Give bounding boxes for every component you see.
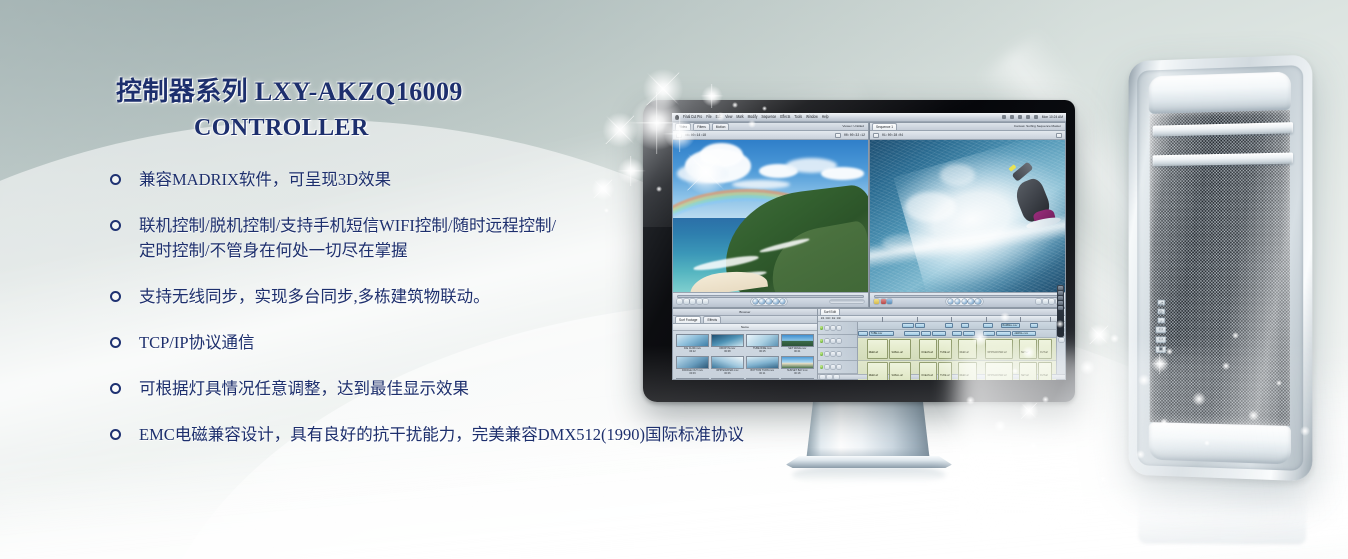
timeline-tracks[interactable]: BARREL.mov TUBE.mov — [858, 322, 1056, 374]
tool-palette[interactable] — [1057, 285, 1064, 337]
canvas-panel: Sequence 1 Canvas: Surfing Sequence Mast… — [869, 122, 1066, 308]
blue-keyframe-icon[interactable] — [887, 299, 892, 304]
bullet-ring-icon — [110, 429, 121, 440]
table-row[interactable] — [983, 331, 995, 336]
clip-label: BARREL.mov — [1002, 324, 1019, 327]
canvas-infobar[interactable]: 01:00:28:04 — [870, 131, 1065, 140]
table-row[interactable] — [996, 331, 1012, 336]
table-row[interactable]: TUBE.aif — [938, 362, 952, 380]
table-row[interactable]: OUT.aif — [1038, 339, 1052, 359]
go-to-end-icon[interactable] — [975, 299, 980, 304]
menubar-clock[interactable]: Mon 10:24 AM — [1042, 115, 1063, 119]
canvas-viewer[interactable] — [870, 140, 1065, 292]
table-row[interactable] — [902, 323, 914, 328]
table-row[interactable] — [921, 331, 931, 336]
list-item: 支持无线同步，实现多台同步,多栋建筑物联动。 — [104, 284, 864, 309]
canvas-button-row — [870, 297, 1065, 306]
clip-label: REEF.aif — [868, 374, 879, 377]
bullet-ring-icon — [110, 220, 121, 231]
insert-edit-icon[interactable] — [1036, 299, 1041, 304]
clip-label: OCEAN.aif — [920, 374, 934, 377]
table-row[interactable]: SET.aif — [1019, 339, 1037, 359]
play-in-to-out-icon[interactable] — [955, 299, 960, 304]
list-item: 联机控制/脱机控制/支持手机短信WIFI控制/随时远程控制/定时控制/不管身在何… — [104, 213, 864, 263]
clip-label: TUBE.aif — [939, 374, 951, 377]
clip-label: WHITEWATER.aif — [986, 374, 1007, 377]
tower-chassis: ⎇ ⏻ ♪ ▭ ▭ ▣ — [1129, 55, 1313, 482]
table-row[interactable]: SET.aif — [1019, 362, 1037, 380]
table-row[interactable] — [983, 323, 993, 328]
canvas-timecode[interactable]: 01:00:28:04 — [882, 133, 903, 137]
table-row[interactable]: BARREL.mov — [1001, 323, 1021, 328]
stand-reflection — [792, 467, 946, 483]
table-row[interactable] — [952, 331, 962, 336]
bluetooth-icon[interactable] — [1002, 115, 1006, 119]
clip-label: REEF.aif — [959, 374, 970, 377]
list-item: EMC电磁兼容设计，具有良好的抗干扰能力，完美兼容DMX512(1990)国际标… — [104, 422, 864, 447]
firewire-800-icon[interactable]: ▣ — [1156, 346, 1167, 353]
bullet-ring-icon — [110, 383, 121, 394]
red-record-icon[interactable] — [881, 299, 886, 304]
list-item-label: TCP/IP协议通信 — [139, 330, 255, 355]
table-row[interactable]: REEF.aif — [958, 339, 978, 359]
table-row[interactable]: REEF.aif — [867, 362, 889, 380]
clip-label: OCEAN.aif — [920, 351, 934, 354]
razor-tool-icon[interactable] — [1058, 291, 1063, 295]
table-row[interactable] — [1030, 323, 1038, 328]
pen-tool-icon[interactable] — [1058, 306, 1063, 310]
page-subtitle: CONTROLLER — [104, 111, 864, 145]
table-row[interactable]: REEF.aif — [958, 362, 978, 380]
list-item: 兼容MADRIX软件，可呈现3D效果 — [104, 167, 864, 192]
list-item-label: EMC电磁兼容设计，具有良好的抗干扰能力，完美兼容DMX512(1990)国际标… — [139, 422, 744, 447]
banner-stage: 控制器系列 LXY-AKZQ16009 CONTROLLER 兼容MADRIX软… — [0, 0, 1348, 559]
tab-sequence[interactable]: Sequence 1 — [872, 123, 897, 130]
tower-front-panel: ⎇ ⏻ ♪ ▭ ▭ ▣ — [1137, 65, 1303, 471]
table-row[interactable]: REEF.aif — [867, 339, 889, 359]
headphone-icon[interactable]: ♪ — [1157, 317, 1165, 323]
front-port-cluster[interactable]: ⎇ ⏻ ♪ ▭ ▭ ▣ — [1155, 300, 1168, 354]
page-title: 控制器系列 LXY-AKZQ16009 — [104, 76, 864, 108]
clip-label: REEF.aif — [959, 351, 970, 354]
audio-track-a1[interactable]: REEF.aif SWELL.aif OCEAN.aif TUBE.aif RE… — [858, 338, 1056, 361]
table-row[interactable] — [963, 331, 975, 336]
clip-label: SWELL.aif — [890, 374, 903, 377]
video-track-v2[interactable]: BARREL.mov — [858, 322, 1056, 330]
canvas-title: Canvas: Surfing Sequence Master — [1014, 123, 1065, 130]
canvas-marker-buttons[interactable] — [874, 299, 892, 304]
tower-handle-top — [1149, 72, 1291, 114]
list-item-label: 兼容MADRIX软件，可呈现3D效果 — [139, 167, 391, 192]
clip-label: SWELL.aif — [890, 351, 903, 354]
table-row[interactable]: TUBE.mov — [869, 331, 895, 336]
selection-tool-icon[interactable] — [1058, 286, 1063, 290]
tower-reflection — [1138, 473, 1306, 544]
marketing-copy: 控制器系列 LXY-AKZQ16009 CONTROLLER 兼容MADRIX软… — [104, 76, 864, 468]
audio-track-a2[interactable]: REEF.aif SWELL.aif OCEAN.aif TUBE.aif RE… — [858, 361, 1056, 380]
feature-list: 兼容MADRIX软件，可呈现3D效果 联机控制/脱机控制/支持手机短信WIFI控… — [104, 167, 864, 447]
table-row[interactable] — [945, 323, 953, 328]
clip-label: SET.aif — [1020, 351, 1030, 354]
table-row[interactable] — [904, 331, 920, 336]
clip-label: TUBE.aif — [939, 351, 951, 354]
firewire-icon[interactable]: ⎇ — [1157, 300, 1165, 306]
clip-label: SET.aif — [1020, 374, 1030, 377]
play-icon[interactable] — [962, 299, 967, 304]
crop-tool-icon[interactable] — [1058, 301, 1063, 305]
power-icon[interactable]: ⏻ — [1157, 309, 1165, 315]
clip-label: TUBE.mov — [870, 332, 884, 335]
zoom-popup[interactable] — [873, 133, 879, 138]
table-row[interactable] — [932, 331, 946, 336]
clip-label: AERIAL.mov — [1013, 332, 1029, 335]
video-track-v1[interactable]: TUBE.mov — [858, 330, 1056, 338]
bullet-ring-icon — [110, 291, 121, 302]
volume-icon[interactable] — [1018, 115, 1022, 119]
list-item: 可根据灯具情况任意调整，达到最佳显示效果 — [104, 376, 864, 401]
table-row[interactable]: AERIAL.mov — [1012, 331, 1036, 336]
list-item-label: 支持无线同步，实现多台同步,多栋建筑物联动。 — [139, 284, 490, 309]
tower-handle-bottom — [1149, 422, 1291, 464]
clip-label: OUT.aif — [1039, 351, 1049, 354]
table-row[interactable]: SWELL.aif — [889, 339, 911, 359]
time-machine-icon[interactable] — [1010, 115, 1014, 119]
table-row[interactable]: OCEAN.aif — [919, 362, 937, 380]
table-row[interactable]: SWELL.aif — [889, 362, 911, 380]
bullet-ring-icon — [110, 174, 121, 185]
zoom-tool-icon[interactable] — [1058, 296, 1063, 300]
replace-edit-icon[interactable] — [1049, 299, 1054, 304]
usb-icon[interactable]: ▭ — [1156, 336, 1167, 343]
clip-label: OUT.aif — [1039, 374, 1049, 377]
table-row[interactable]: TUBE.aif — [938, 339, 952, 359]
usb-icon[interactable]: ▭ — [1156, 326, 1167, 333]
table-row[interactable] — [961, 323, 969, 328]
canvas-tabbar[interactable]: Sequence 1 Canvas: Surfing Sequence Mast… — [870, 123, 1065, 131]
bullet-ring-icon — [110, 337, 121, 348]
table-row[interactable] — [915, 323, 925, 328]
view-popup[interactable] — [1056, 133, 1062, 138]
go-to-start-icon[interactable] — [948, 299, 953, 304]
play-around-icon[interactable] — [968, 299, 973, 304]
canvas-transport[interactable] — [870, 292, 1065, 307]
yellow-marker-icon[interactable] — [874, 299, 879, 304]
wifi-icon[interactable] — [1026, 115, 1030, 119]
list-item-label: 联机控制/脱机控制/支持手机短信WIFI控制/随时远程控制/定时控制/不管身在何… — [139, 213, 556, 263]
clip-label: WHITEWATER.aif — [986, 351, 1007, 354]
audio-waveform-icon[interactable] — [1059, 338, 1064, 342]
list-item-label: 可根据灯具情况任意调整，达到最佳显示效果 — [139, 376, 469, 401]
surfer-wave-image — [870, 140, 1065, 292]
list-item: TCP/IP协议通信 — [104, 330, 864, 355]
clip-label: REEF.aif — [868, 351, 879, 354]
mac-pro-tower: ⎇ ⏻ ♪ ▭ ▭ ▣ — [1129, 55, 1313, 482]
table-row[interactable]: OUT.aif — [1038, 362, 1052, 380]
table-row[interactable]: OCEAN.aif — [919, 339, 937, 359]
overwrite-edit-icon[interactable] — [1043, 299, 1048, 304]
table-row[interactable]: WHITEWATER.aif — [985, 362, 1013, 380]
canvas-transport-buttons[interactable] — [946, 298, 983, 304]
table-row[interactable]: WHITEWATER.aif — [985, 339, 1013, 359]
battery-icon[interactable] — [1034, 115, 1038, 119]
